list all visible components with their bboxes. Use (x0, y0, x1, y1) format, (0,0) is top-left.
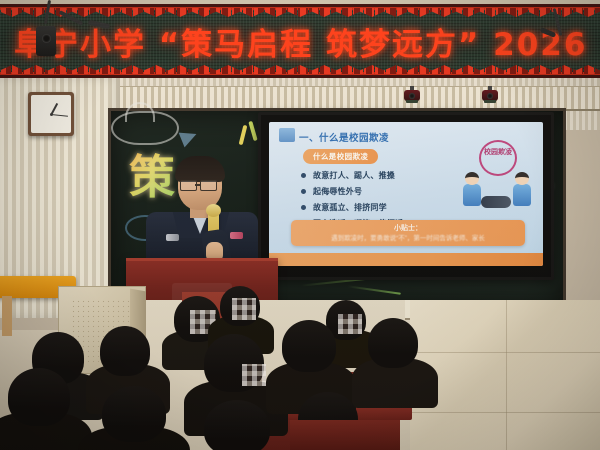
anti-bullying-stamp-icon: 校园欺凌 (479, 140, 517, 176)
figure-head (465, 172, 479, 185)
cartoon-figure-left (463, 172, 481, 206)
stamp-text: 校园欺凌 (481, 148, 515, 157)
student-head (100, 326, 150, 376)
student-seat (364, 318, 424, 396)
speaker-chest-badge (230, 232, 243, 239)
slide-bullet: 故意孤立、排挤同学 (313, 202, 387, 213)
slide-title: 一、什么是校园欺凌 (299, 130, 389, 144)
hanging-camera-lens (42, 34, 51, 43)
clock-minute-hand (51, 114, 68, 117)
paper-plane-doodle-icon (179, 127, 200, 148)
figure-torso (513, 184, 531, 206)
spark-doodle-icon (239, 125, 248, 145)
ceiling-camera-right (482, 86, 498, 102)
student-seat (0, 368, 80, 450)
wall-clock (28, 92, 74, 136)
camera-base (406, 100, 418, 103)
projection-screen[interactable]: 一、什么是校园欺凌 什么是校园欺凌 故意打人、踢人、推搡 起侮辱性外号 故意孤立… (258, 112, 554, 280)
slide-title-icon (279, 128, 295, 142)
marble-seam (410, 412, 600, 413)
bench-leg (2, 296, 12, 336)
camera-base (484, 100, 496, 103)
slide-bullet: 起侮辱性外号 (313, 186, 362, 197)
slide-bullet: 故意打人、踢人、推搡 (313, 170, 395, 181)
clock-face (31, 95, 71, 133)
student-seat (92, 386, 176, 450)
slide-cartoon-illustration: 校园欺凌 (459, 140, 533, 212)
slide-content: 一、什么是校园欺凌 什么是校园欺凌 故意打人、踢人、推搡 起侮辱性外号 故意孤立… (269, 122, 543, 266)
camera-lens (409, 93, 415, 99)
right-marble-wall (410, 300, 600, 450)
slide-tip-body: 遇到欺凌时，要勇敢说“不”，第一时间告诉老师、家长 (291, 232, 525, 242)
student-head (204, 400, 270, 450)
student-head (102, 386, 166, 442)
desk-row-front-lower (290, 420, 400, 450)
led-banner: 阜宁小学 “策马启程 筑梦远方” 2026 (0, 4, 600, 78)
photo-canvas: 阜宁小学 “策马启程 筑梦远方” 2026 策 程 筑 (0, 0, 600, 450)
ceiling-camera-left (404, 86, 420, 102)
speaker-hair (175, 156, 225, 182)
speaker-glasses-bridge (195, 184, 201, 186)
cloud-doodle-icon (111, 111, 179, 145)
face-mosaic (242, 364, 266, 386)
marble-seam (410, 352, 600, 353)
vine-doodle-icon (347, 285, 401, 294)
face-mosaic (232, 298, 256, 320)
cartoon-figure-right (513, 172, 531, 206)
figure-torso (463, 184, 481, 206)
led-banner-text: 阜宁小学 “策马启程 筑梦远方” 2026 (14, 23, 600, 67)
speaker-shoulder-badge (166, 234, 179, 241)
clock-center-pin (50, 113, 53, 116)
slide-tip-box: 小贴士： 遇到欺凌时，要勇敢说“不”，第一时间告诉老师、家长 (291, 220, 525, 246)
student-seat (196, 400, 280, 450)
figure-head (515, 172, 529, 185)
speaker-glasses-right (200, 180, 217, 191)
spark-doodle-icon (248, 121, 257, 141)
camera-lens (487, 93, 493, 99)
cartoon-figure-on-ground (481, 196, 511, 208)
slide-section-pill: 什么是校园欺凌 (303, 149, 378, 164)
marble-seam (506, 300, 507, 450)
microphone-head (206, 204, 221, 217)
student-head (368, 318, 418, 368)
student-head (282, 320, 336, 372)
slide-bottom-strip (269, 253, 543, 266)
speaker-glasses-left (180, 180, 197, 191)
student-seat (276, 320, 342, 402)
student-head (8, 368, 70, 426)
